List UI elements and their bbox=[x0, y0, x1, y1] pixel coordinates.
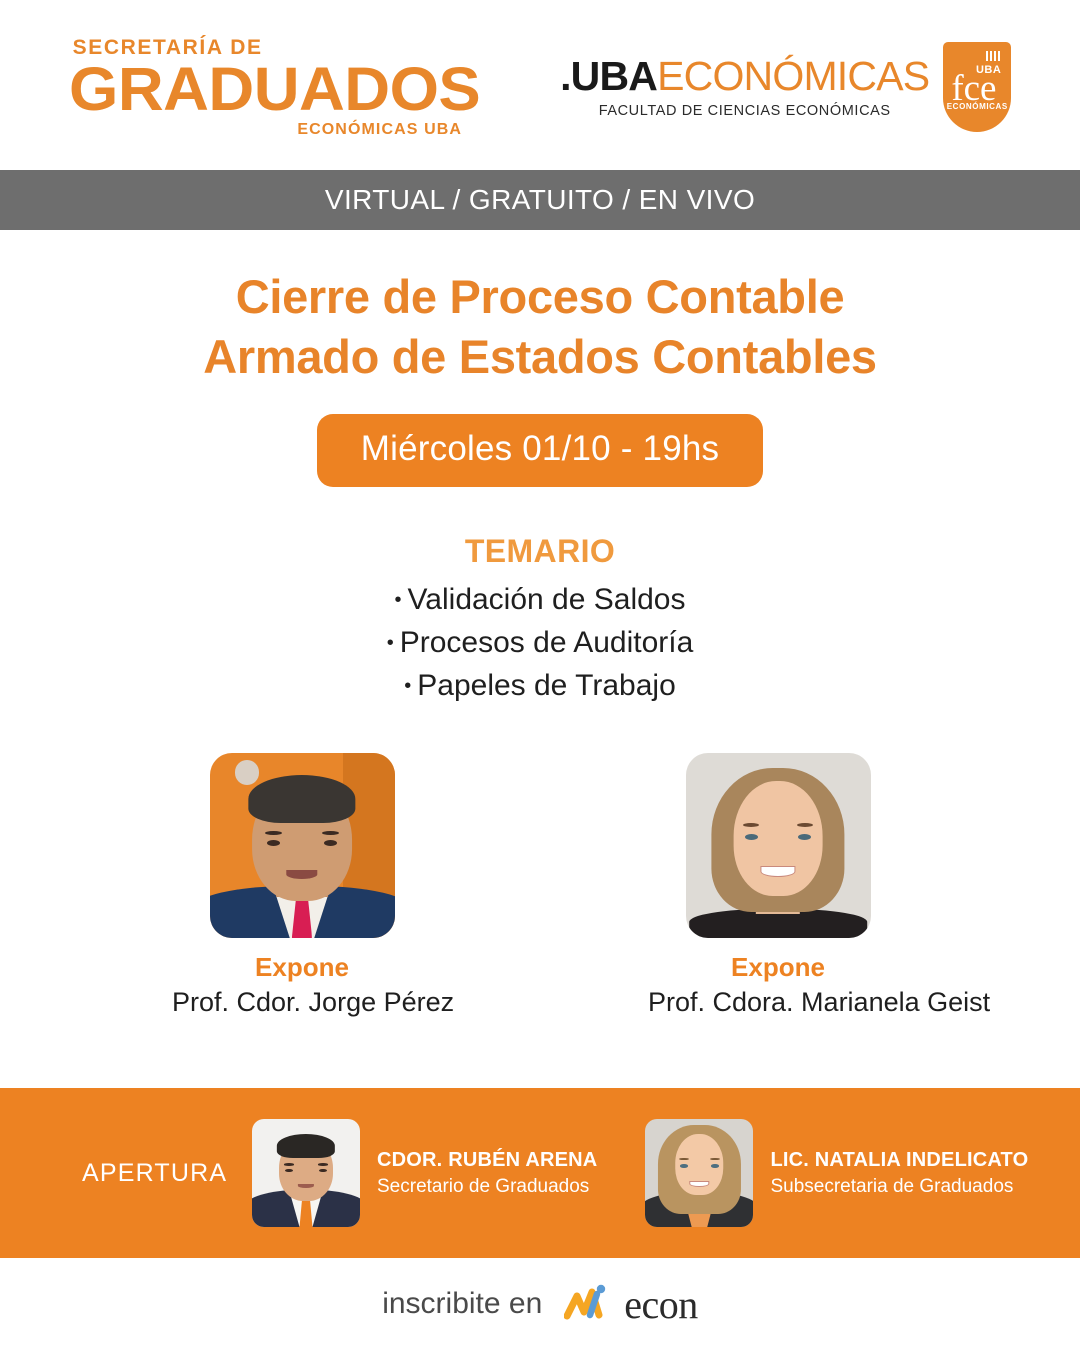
graduados-logo-line3: ECONÓMICAS UBA bbox=[297, 122, 464, 138]
apertura-person-1-name: LIC. NATALIA INDELICATO bbox=[770, 1149, 1028, 1172]
speaker-photo-jorge-perez bbox=[210, 753, 395, 938]
modality-banner: VIRTUAL / GRATUITO / EN VIVO bbox=[0, 170, 1080, 230]
speaker-card-1: Expone Prof. Cdora. Marianela Geist bbox=[648, 753, 908, 1018]
footer-cta-text: inscribite en bbox=[382, 1287, 542, 1321]
speaker-0-role: Expone bbox=[172, 952, 432, 983]
speaker-1-role: Expone bbox=[648, 952, 908, 983]
fce-shield-icon: UBA fce ECONÓMICAS bbox=[943, 42, 1011, 132]
title-line-2: Armado de Estados Contables bbox=[0, 327, 1080, 387]
temario-item-1-label: Procesos de Auditoría bbox=[400, 626, 694, 659]
apertura-person-0-name: CDOR. RUBÉN ARENA bbox=[377, 1149, 597, 1172]
uba-logo-wordmark: .UBAECONÓMICAS bbox=[560, 56, 929, 97]
bullet-icon: • bbox=[387, 632, 394, 654]
econ-logo[interactable]: econ bbox=[564, 1281, 698, 1328]
fce-shield-bottom-label: ECONÓMICAS bbox=[943, 102, 1011, 111]
speaker-0-name: Prof. Cdor. Jorge Pérez bbox=[172, 987, 432, 1018]
temario-heading: TEMARIO bbox=[0, 533, 1080, 570]
temario-section: TEMARIO •Validación de Saldos •Procesos … bbox=[0, 533, 1080, 707]
speaker-photo-marianela-geist bbox=[686, 753, 871, 938]
apertura-person-0-role: Secretario de Graduados bbox=[377, 1176, 597, 1198]
date-pill: Miércoles 01/10 - 19hs bbox=[317, 414, 763, 487]
footer: inscribite en econ bbox=[0, 1258, 1080, 1350]
page-title: Cierre de Proceso Contable Armado de Est… bbox=[0, 230, 1080, 387]
apertura-person-1: LIC. NATALIA INDELICATO Subsecretaria de… bbox=[645, 1119, 1028, 1227]
apertura-band: APERTURA CDOR. RUBÉN ARENA Secretario de… bbox=[0, 1088, 1080, 1258]
apertura-photo-ruben-arena bbox=[252, 1119, 360, 1227]
date-pill-wrap: Miércoles 01/10 - 19hs bbox=[0, 414, 1080, 487]
apertura-person-1-text: LIC. NATALIA INDELICATO Subsecretaria de… bbox=[770, 1149, 1028, 1198]
title-line-1: Cierre de Proceso Contable bbox=[0, 267, 1080, 327]
uba-economicas-logo: .UBAECONÓMICAS FACULTAD DE CIENCIAS ECON… bbox=[560, 42, 1011, 132]
econ-mark-icon bbox=[564, 1282, 620, 1326]
header-logos: SECRETARÍA DE GRADUADOS ECONÓMICAS UBA .… bbox=[0, 0, 1080, 170]
apertura-label: APERTURA bbox=[82, 1159, 252, 1188]
speaker-card-0: Expone Prof. Cdor. Jorge Pérez bbox=[172, 753, 432, 1018]
apertura-person-0: CDOR. RUBÉN ARENA Secretario de Graduado… bbox=[252, 1119, 597, 1227]
fce-bars-icon bbox=[986, 51, 1000, 61]
secretaria-graduados-logo: SECRETARÍA DE GRADUADOS ECONÓMICAS UBA bbox=[69, 37, 464, 138]
modality-banner-text: VIRTUAL / GRATUITO / EN VIVO bbox=[325, 184, 755, 216]
econ-wordmark: econ bbox=[624, 1281, 698, 1328]
temario-item-0-label: Validación de Saldos bbox=[408, 583, 686, 616]
uba-logo-text: .UBAECONÓMICAS FACULTAD DE CIENCIAS ECON… bbox=[560, 56, 929, 119]
speakers-section: Expone Prof. Cdor. Jorge Pérez Expone Pr… bbox=[0, 753, 1080, 1018]
uba-logo-prefix: .UBA bbox=[560, 53, 657, 99]
apertura-person-1-role: Subsecretaria de Graduados bbox=[770, 1176, 1028, 1198]
bullet-icon: • bbox=[404, 675, 411, 697]
speaker-1-name: Prof. Cdora. Marianela Geist bbox=[648, 987, 908, 1018]
uba-logo-suffix: ECONÓMICAS bbox=[657, 53, 929, 99]
graduados-logo-line2: GRADUADOS bbox=[69, 59, 480, 120]
temario-item-1: •Procesos de Auditoría bbox=[0, 622, 1080, 665]
temario-item-2: •Papeles de Trabajo bbox=[0, 665, 1080, 708]
temario-item-0: •Validación de Saldos bbox=[0, 579, 1080, 622]
temario-item-2-label: Papeles de Trabajo bbox=[417, 669, 676, 702]
apertura-person-0-text: CDOR. RUBÉN ARENA Secretario de Graduado… bbox=[377, 1149, 597, 1198]
apertura-photo-natalia-indelicato bbox=[645, 1119, 753, 1227]
bullet-icon: • bbox=[395, 589, 402, 611]
uba-logo-subtitle: FACULTAD DE CIENCIAS ECONÓMICAS bbox=[560, 104, 929, 119]
